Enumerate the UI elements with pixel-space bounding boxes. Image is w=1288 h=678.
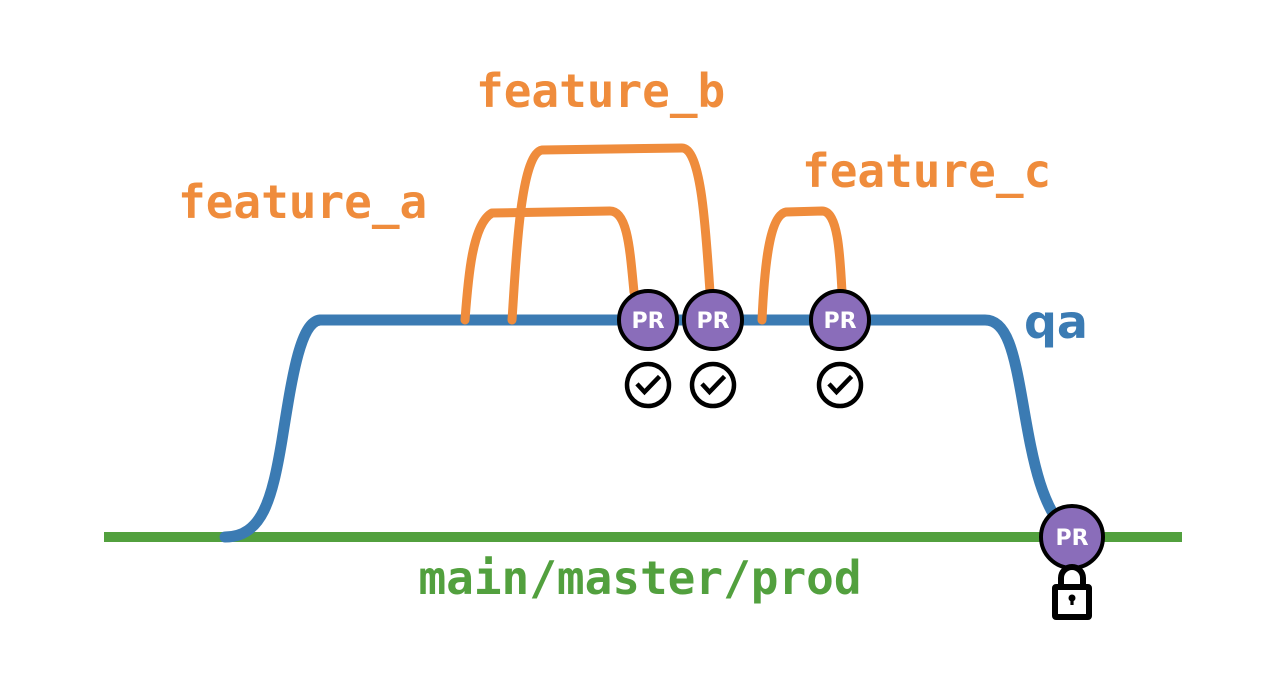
pr-node-label: PR <box>631 309 664 334</box>
pr-node-qa-to-main[interactable]: PR <box>1041 506 1103 568</box>
check-circle-icon[interactable] <box>819 364 861 406</box>
feature-a-branch-path <box>465 211 634 320</box>
pr-node-feature-c[interactable]: PR <box>811 291 869 349</box>
qa-branch-path <box>225 320 1072 537</box>
lock-keyhole-stem <box>1070 598 1073 605</box>
check-circle-icon[interactable] <box>692 364 734 406</box>
branch-label-main: main/master/prod <box>418 551 861 605</box>
pr-node-label: PR <box>823 309 856 334</box>
branch-line-qa[interactable] <box>225 320 1072 537</box>
git-flow-canvas: PR PR PR PR <box>0 0 1288 678</box>
check-circle-outline <box>819 364 861 406</box>
lock-icon[interactable] <box>1055 567 1089 617</box>
branch-label-feature-c: feature_c <box>802 144 1051 198</box>
branch-line-feature-a[interactable] <box>465 211 634 320</box>
branch-line-feature-b[interactable] <box>512 148 710 320</box>
pr-node-label: PR <box>1055 526 1088 551</box>
check-circle-outline <box>692 364 734 406</box>
git-flow-diagram: PR PR PR PR <box>0 0 1288 678</box>
branch-label-feature-a: feature_a <box>178 175 427 229</box>
pr-node-label: PR <box>696 309 729 334</box>
pr-node-feature-a[interactable]: PR <box>619 291 677 349</box>
branch-label-qa: qa <box>1024 295 1088 349</box>
branch-label-feature-b: feature_b <box>476 64 725 118</box>
check-circle-outline <box>627 364 669 406</box>
pr-node-feature-b[interactable]: PR <box>684 291 742 349</box>
check-circle-icon[interactable] <box>627 364 669 406</box>
feature-b-branch-path <box>512 148 710 320</box>
